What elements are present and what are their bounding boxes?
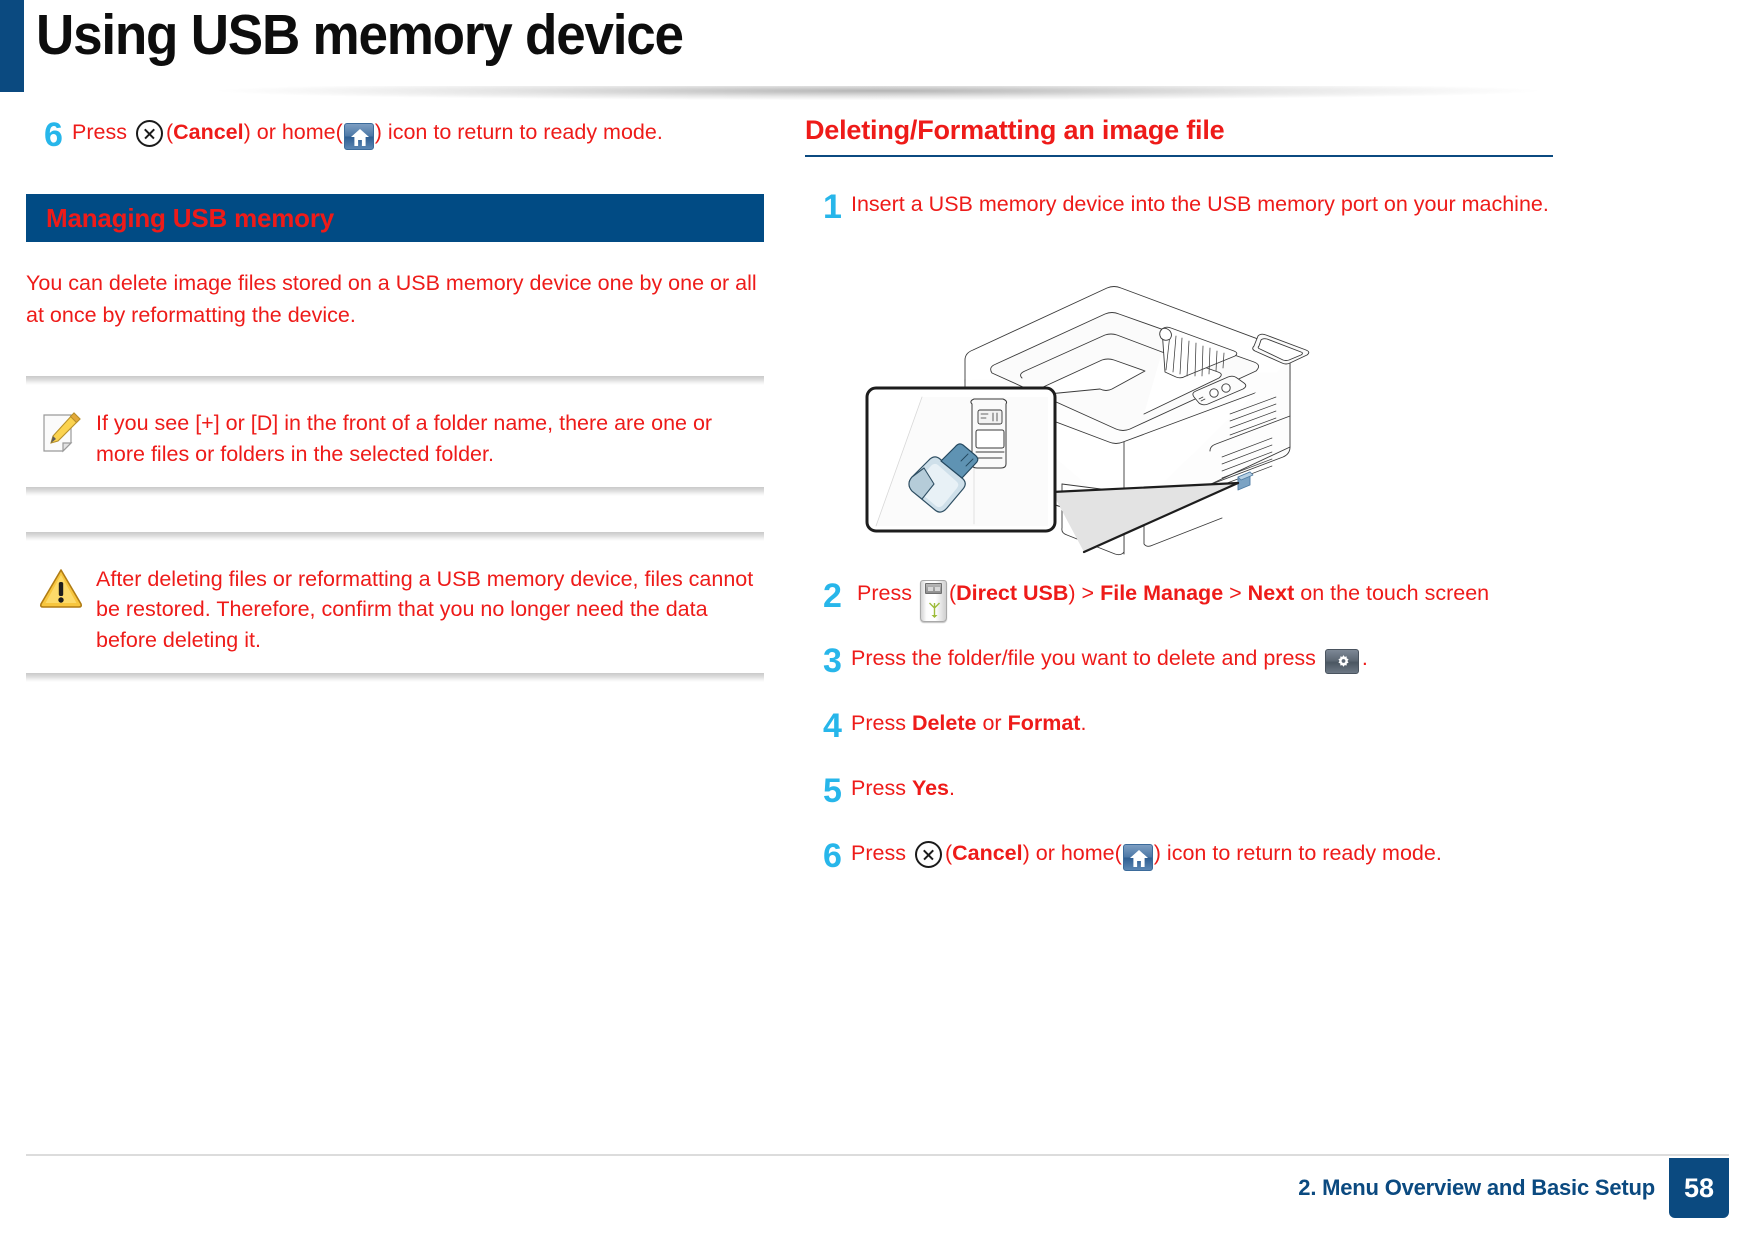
step-text-middle: ) or home( — [1023, 841, 1122, 865]
step-2: 2 Press (Direct USB) > File Manage > Nex… — [805, 576, 1555, 613]
section-paragraph: You can delete image files stored on a U… — [26, 268, 764, 332]
step-text-suffix: on the touch screen — [1294, 581, 1489, 605]
warning-triangle-icon — [38, 566, 90, 615]
section-banner-label: Managing USB memory — [26, 203, 334, 234]
note-box-top-rule — [26, 376, 764, 385]
step-text-middle: ) or home( — [244, 120, 343, 144]
step-number: 2 — [805, 579, 851, 613]
step-text-prefix: Press — [851, 841, 912, 865]
page-number-badge: 58 — [1669, 1158, 1729, 1218]
title-shadow-divider — [28, 86, 1728, 108]
caution-box-bottom-rule — [26, 673, 764, 682]
left-column: 6 Press (Cancel) or home() icon to retur… — [26, 115, 766, 674]
step-text-prefix: Press the folder/file you want to delete… — [851, 646, 1322, 670]
section-banner-managing-usb-memory: Managing USB memory — [26, 194, 764, 242]
step-number: 4 — [805, 709, 851, 743]
cancel-icon[interactable] — [136, 120, 163, 147]
footer-chapter-label: 2. Menu Overview and Basic Setup — [1298, 1175, 1655, 1201]
caution-box: After deleting files or reformatting a U… — [26, 532, 764, 675]
step-1: 1 Insert a USB memory device into the US… — [805, 187, 1555, 224]
step-number: 5 — [805, 774, 851, 808]
step-text-prefix: Press — [851, 711, 912, 735]
note-box-text: If you see [+] or [D] in the front of a … — [90, 408, 758, 470]
separator-1: ) > — [1068, 581, 1100, 605]
step-text-prefix: Press — [857, 581, 918, 605]
step-text: Press (Cancel) or home() icon to return … — [72, 115, 766, 148]
step-4: 4 Press Delete or Format. — [805, 706, 1555, 743]
yes-label: Yes — [912, 776, 949, 800]
step-text-suffix: . — [1362, 646, 1368, 670]
step-number: 1 — [805, 190, 851, 224]
file-manage-label: File Manage — [1100, 581, 1223, 605]
step-text-suffix: ) icon to return to ready mode. — [375, 120, 663, 144]
separator-2: > — [1223, 581, 1248, 605]
step-text: Press the folder/file you want to delete… — [851, 641, 1555, 674]
delete-label: Delete — [912, 711, 977, 735]
direct-usb-label: Direct USB — [956, 581, 1068, 605]
cancel-icon[interactable] — [915, 841, 942, 868]
cancel-label: Cancel — [952, 841, 1023, 865]
step-text: Press Delete or Format. — [851, 706, 1555, 739]
page-header: Using USB memory device — [0, 0, 1755, 100]
step-text-suffix: ) icon to return to ready mode. — [1154, 841, 1442, 865]
step-text: Insert a USB memory device into the USB … — [851, 187, 1555, 220]
step-number: 6 — [26, 118, 72, 152]
subsection-heading: Deleting/Formatting an image file — [805, 115, 1553, 155]
note-pencil-icon — [38, 410, 90, 461]
step-text: Press Yes. — [851, 771, 1555, 804]
home-icon[interactable] — [344, 123, 374, 150]
step-6-continued: 6 Press (Cancel) or home() icon to retur… — [26, 115, 766, 152]
step-text-suffix: . — [949, 776, 955, 800]
step-text: Press (Cancel) or home() icon to return … — [851, 836, 1555, 869]
step-3: 3 Press the folder/file you want to dele… — [805, 641, 1555, 678]
note-box: If you see [+] or [D] in the front of a … — [26, 376, 764, 488]
step-5: 5 Press Yes. — [805, 771, 1555, 808]
next-label: Next — [1248, 581, 1295, 605]
caution-box-top-rule — [26, 532, 764, 541]
step-text-prefix: Press — [851, 776, 912, 800]
gear-icon[interactable] — [1325, 649, 1359, 674]
caution-box-text: After deleting files or reformatting a U… — [90, 564, 758, 657]
usb-drive-icon[interactable] — [920, 580, 947, 622]
step-6: 6 Press (Cancel) or home() icon to retur… — [805, 836, 1555, 873]
note-box-bottom-rule — [26, 487, 764, 496]
page-footer: 2. Menu Overview and Basic Setup 58 — [0, 1154, 1755, 1240]
subsection-heading-rule — [805, 155, 1553, 157]
footer-rule — [26, 1154, 1729, 1156]
cancel-label: Cancel — [173, 120, 244, 144]
step-number: 6 — [805, 839, 851, 873]
page-title: Using USB memory device — [36, 2, 683, 68]
printer-usb-insert-illustration — [862, 252, 1332, 562]
step-number: 3 — [805, 644, 851, 678]
step-text: Press (Direct USB) > File Manage > Next … — [851, 576, 1555, 609]
step-text-middle: or — [976, 711, 1007, 735]
home-icon[interactable] — [1123, 844, 1153, 871]
step-text-prefix: Press — [72, 120, 133, 144]
step-text-suffix: . — [1080, 711, 1086, 735]
title-accent-bar — [0, 0, 24, 92]
format-label: Format — [1008, 711, 1081, 735]
